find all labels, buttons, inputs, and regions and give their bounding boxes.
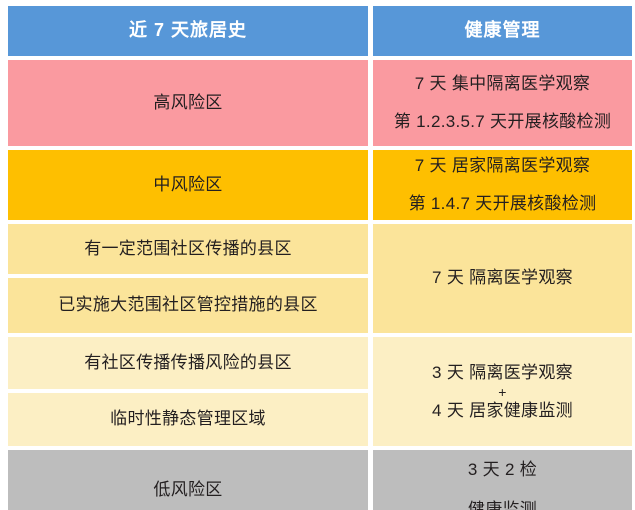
column-header-health-management: 健康管理 [373,6,632,56]
column-header-health-management-label: 健康管理 [465,17,541,45]
column-header-travel-history-label: 近 7 天旅居史 [129,17,247,45]
management-mid-risk-line-1: 7 天 居家隔离医学观察 [415,153,591,179]
management-merged-4day-home-monitoring-text: 4 天 居家健康监测 [432,400,573,421]
column-header-travel-history: 近 7 天旅居史 [8,6,368,56]
risk-label-large-scale-control: 已实施大范围社区管控措施的县区 [58,292,318,318]
table-row-large-scale-control-label-cell: 已实施大范围社区管控措施的县区 [8,278,368,333]
table-row-high-risk-management-cell: 7 天 集中隔离医学观察 第 1.2.3.5.7 天开展核酸检测 [373,60,632,146]
table-row-static-management-label-cell: 临时性静态管理区域 [8,393,368,446]
risk-label-community-spread: 有一定范围社区传播的县区 [84,236,292,262]
risk-label-spread-risk: 有社区传播传播风险的县区 [84,350,292,376]
risk-label-mid-risk: 中风险区 [153,172,222,198]
management-high-risk-line-1: 7 天 集中隔离医学观察 [415,71,591,97]
management-merged-3day-isolation-text: 3 天 隔离医学观察 [432,362,573,383]
management-merged-cell-3plus4: 3 天 隔离医学观察 + 4 天 居家健康监测 [373,337,632,446]
management-low-risk-line-1: 3 天 2 检 [468,457,537,483]
table-row-mid-risk-label-cell: 中风险区 [8,150,368,220]
table-row-high-risk-label-cell: 高风险区 [8,60,368,146]
table-row-low-risk-management-cell: 3 天 2 检 健康监测 [373,450,632,510]
management-low-risk-line-2: 健康监测 [468,497,537,510]
table-row-low-risk-label-cell: 低风险区 [8,450,368,510]
management-mid-risk-line-2: 第 1.4.7 天开展核酸检测 [409,191,597,217]
management-merged-cell-7day-isolation: 7 天 隔离医学观察 [373,224,632,333]
risk-label-static-management: 临时性静态管理区域 [110,406,266,432]
table-row-spread-risk-label-cell: 有社区传播传播风险的县区 [8,337,368,389]
table-row-community-spread-label-cell: 有一定范围社区传播的县区 [8,224,368,274]
risk-health-management-table: 近 7 天旅居史 健康管理 高风险区 7 天 集中隔离医学观察 第 1.2.3.… [0,0,635,510]
table-grid: 近 7 天旅居史 健康管理 高风险区 7 天 集中隔离医学观察 第 1.2.3.… [8,6,627,502]
plus-separator-icon: + [498,385,506,399]
management-high-risk-line-2: 第 1.2.3.5.7 天开展核酸检测 [394,109,611,135]
risk-label-low-risk: 低风险区 [153,477,222,503]
risk-label-high-risk: 高风险区 [153,90,222,116]
table-row-mid-risk-management-cell: 7 天 居家隔离医学观察 第 1.4.7 天开展核酸检测 [373,150,632,220]
management-merged-7day-isolation-text: 7 天 隔离医学观察 [432,265,573,291]
